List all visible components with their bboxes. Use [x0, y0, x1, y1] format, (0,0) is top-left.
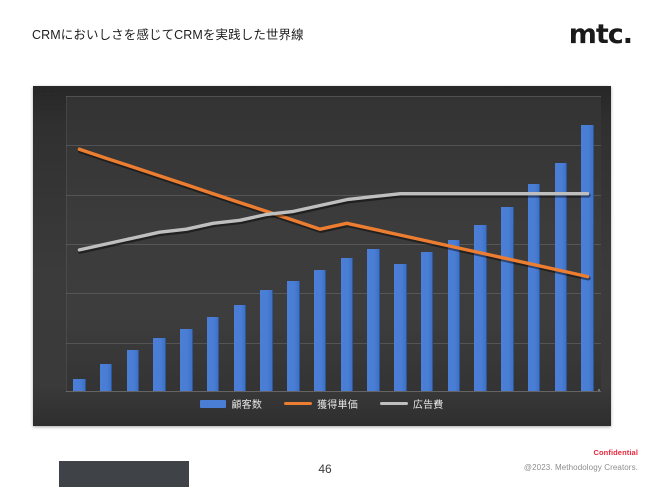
line-獲得単価 [79, 149, 587, 276]
legend-label: 獲得単価 [317, 396, 358, 411]
line-series-layer [66, 96, 601, 392]
chart-panel: - -- - 顧客数獲得単価広告費 [33, 86, 611, 426]
panel-corner-note: - -- - [40, 91, 56, 97]
legend-label: 広告費 [413, 396, 444, 411]
page-title: CRMにおいしさを感じてCRMを実践した世界線 [32, 27, 304, 43]
status-badge-confidential: Confidential [593, 448, 638, 457]
legend-swatch-bar-icon [200, 400, 226, 408]
chart-legend: 顧客数獲得単価広告費 [33, 396, 611, 411]
line-広告費 [79, 194, 587, 250]
legend-swatch-line-icon [380, 402, 408, 405]
legend-label: 顧客数 [231, 396, 262, 411]
copyright-note: @2023. Methodology Creators. [524, 463, 638, 472]
legend-item-顧客数[interactable]: 顧客数 [200, 396, 262, 411]
line-series-svg [66, 96, 601, 392]
brand-logo: mtc. [569, 20, 632, 50]
legend-item-広告費[interactable]: 広告費 [380, 396, 444, 411]
legend-swatch-line-icon [284, 402, 312, 405]
chart-plot-area [66, 96, 601, 392]
legend-item-獲得単価[interactable]: 獲得単価 [284, 396, 358, 411]
presentation-slide: CRMにおいしさを感じてCRMを実践した世界線 mtc. - -- - 顧客数獲… [0, 0, 650, 488]
